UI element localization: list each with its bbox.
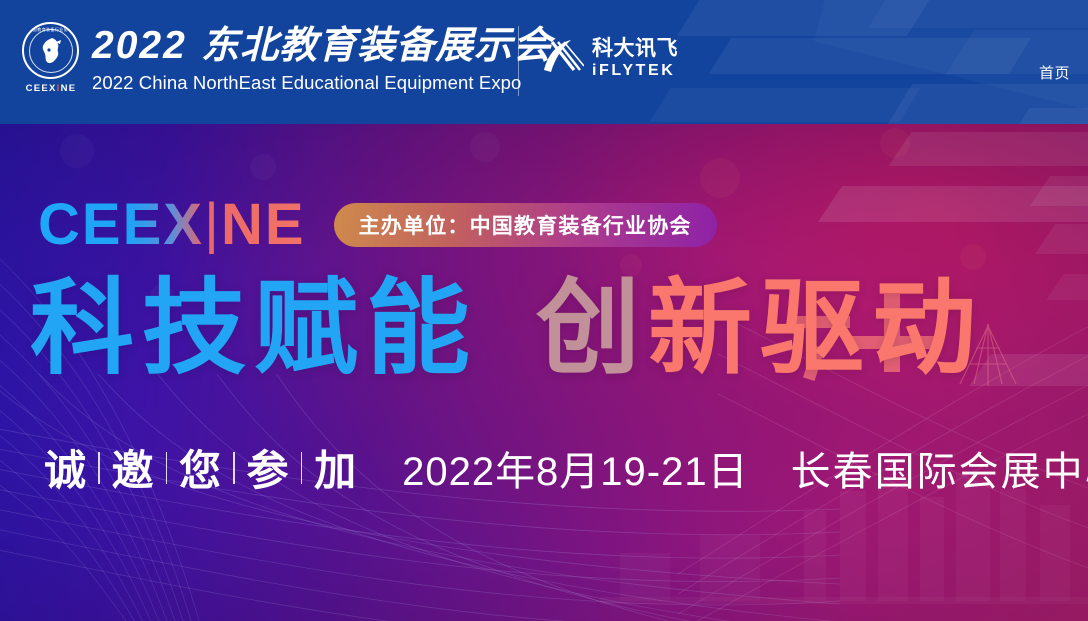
expo-landing-page: 中国教育装备行业协会 CEEXINE 2022 东北教育装备展示会 2022 C…	[0, 0, 1088, 621]
invite-separator	[98, 452, 100, 484]
emblem-wordmark: CEEXINE	[22, 83, 80, 94]
header-title-en: 2022 China NorthEast Educational Equipme…	[92, 72, 552, 94]
headline-left: 科技赋能	[30, 277, 478, 381]
host-organizer-badge: 主办单位：中国教育装备行业协会	[334, 203, 717, 247]
iflytek-mark-icon	[538, 36, 584, 80]
sponsor-name-en: iFLYTEK	[592, 62, 678, 80]
ceexine-wordmark: CEEX|NE	[38, 196, 306, 254]
invite-char-3: 您	[169, 437, 231, 498]
banner-subline: 诚 邀 您 参 加 2022年8月19-21日 长春国际会展中心	[34, 437, 1088, 498]
event-date: 2022年8月19-21日	[402, 439, 749, 497]
emblem-ring-text: 中国教育装备行业协会	[24, 28, 77, 32]
nav-link-home[interactable]: 首页	[1039, 62, 1070, 83]
sponsor-name-cn: 科大讯飞	[592, 37, 678, 60]
sponsor-logo-iflytek[interactable]: 科大讯飞 iFLYTEK	[538, 36, 678, 80]
northeast-china-map-icon	[36, 36, 66, 66]
header-divider	[518, 26, 519, 96]
ceexine-emblem-icon: 中国教育装备行业协会 CEEXINE	[22, 22, 80, 100]
header-title-cn: 2022 东北教育装备展示会	[92, 24, 552, 67]
invite-char-1: 诚	[34, 437, 96, 498]
event-venue: 长春国际会展中心	[791, 439, 1088, 497]
invite-separator	[233, 452, 235, 484]
invite-separator	[166, 452, 168, 484]
invite-phrase: 诚 邀 您 参 加	[34, 437, 366, 498]
banner-logo-row: CEEX|NE 主办单位：中国教育装备行业协会	[38, 196, 717, 254]
brand-lockup[interactable]: 中国教育装备行业协会 CEEXINE 2022 东北教育装备展示会 2022 C…	[22, 22, 552, 100]
invite-char-4: 参	[237, 437, 299, 498]
invite-char-2: 邀	[102, 437, 164, 498]
banner-headline: 科技赋能 创新驱动	[30, 277, 984, 381]
headline-right: 创新驱动	[536, 277, 984, 381]
site-header: 中国教育装备行业协会 CEEXINE 2022 东北教育装备展示会 2022 C…	[0, 0, 1088, 124]
hero-banner: CEEX|NE 主办单位：中国教育装备行业协会 科技赋能 创新驱动 诚 邀 您 …	[0, 124, 1088, 621]
invite-separator	[301, 452, 303, 484]
invite-char-5: 加	[304, 437, 366, 498]
